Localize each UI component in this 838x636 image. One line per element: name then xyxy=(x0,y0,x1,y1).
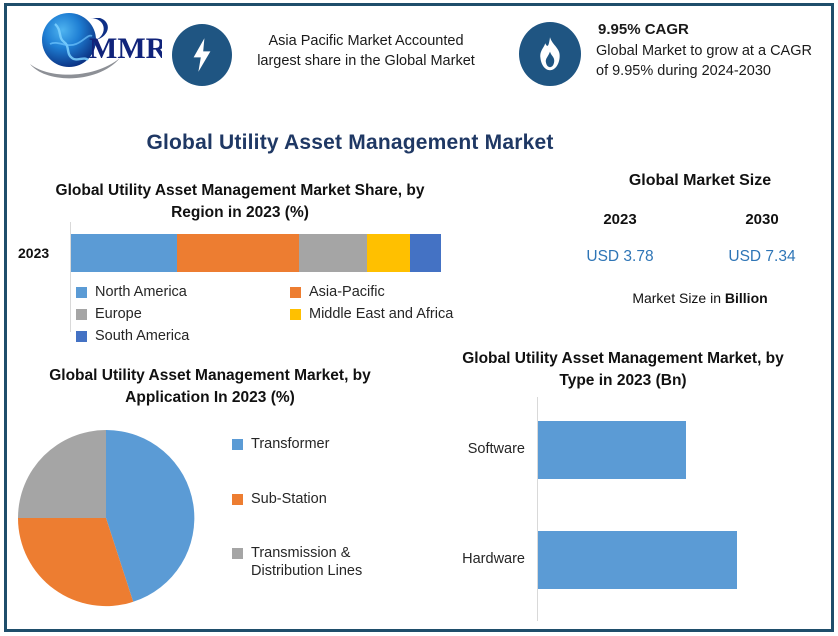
application-legend-transformer: Transformer xyxy=(232,435,329,453)
region-category-label: 2023 xyxy=(18,245,49,261)
market-size-note: Market Size in Billion xyxy=(570,290,830,306)
application-legend-transmission-distribution: Transmission & Distribution Lines xyxy=(232,544,407,580)
flame-badge xyxy=(519,22,581,86)
region-legend-europe: Europe xyxy=(76,305,142,323)
logo-wordmark: MMR xyxy=(89,32,162,65)
lightning-badge xyxy=(172,24,232,86)
right-badge-headline: 9.95% CAGR xyxy=(598,20,818,40)
application-pie-chart xyxy=(12,424,202,614)
right-badge-text: Global Market to grow at a CAGR of 9.95%… xyxy=(596,41,818,81)
legend-swatch-transformer xyxy=(232,439,243,450)
region-legend-north-america: North America xyxy=(76,283,187,301)
region-segment-south-america xyxy=(410,234,441,272)
region-segment-europe xyxy=(299,234,367,272)
legend-swatch-north-america xyxy=(76,287,87,298)
type-bar-software xyxy=(538,421,686,479)
region-stacked-bar xyxy=(71,234,441,272)
mmr-logo: MMR xyxy=(22,6,162,90)
market-size-note-unit: Billion xyxy=(725,290,768,306)
legend-swatch-europe xyxy=(76,309,87,320)
region-legend-south-america: South America xyxy=(76,327,189,345)
region-segment-asia-pacific xyxy=(177,234,299,272)
legend-swatch-sub-station xyxy=(232,494,243,505)
type-label-hardware: Hardware xyxy=(420,551,525,567)
market-size-value-2023: USD 3.78 xyxy=(565,248,675,266)
legend-swatch-middle-east-africa xyxy=(290,309,301,320)
type-bar-hardware xyxy=(538,531,737,589)
flame-icon xyxy=(536,36,564,72)
lightning-bolt-icon xyxy=(187,37,217,73)
region-chart-title: Global Utility Asset Management Market S… xyxy=(45,180,435,224)
type-label-software: Software xyxy=(420,441,525,457)
infographic-root: MMR Asia Pacific Market Accounted larges… xyxy=(0,0,838,636)
application-legend-sub-station: Sub-Station xyxy=(232,490,327,508)
legend-swatch-south-america xyxy=(76,331,87,342)
market-size-year-2030: 2030 xyxy=(707,211,817,228)
left-badge-text: Asia Pacific Market Accounted largest sh… xyxy=(246,31,486,71)
region-segment-north-america xyxy=(71,234,177,272)
market-size-title: Global Market Size xyxy=(570,172,830,190)
region-legend-asia-pacific: Asia-Pacific xyxy=(290,283,385,301)
page-title: Global Utility Asset Management Market xyxy=(0,131,700,155)
region-legend-middle-east-africa: Middle East and Africa xyxy=(290,305,453,323)
legend-swatch-transmission-distribution xyxy=(232,548,243,559)
region-segment-middle-east-africa xyxy=(367,234,410,272)
market-size-note-prefix: Market Size in xyxy=(632,290,725,306)
type-chart-title: Global Utility Asset Management Market, … xyxy=(448,348,798,392)
application-chart-title: Global Utility Asset Management Market, … xyxy=(25,365,395,409)
pie-slice-transmission-distribution xyxy=(18,430,106,518)
market-size-year-2023: 2023 xyxy=(565,211,675,228)
legend-swatch-asia-pacific xyxy=(290,287,301,298)
market-size-value-2030: USD 7.34 xyxy=(707,248,817,266)
